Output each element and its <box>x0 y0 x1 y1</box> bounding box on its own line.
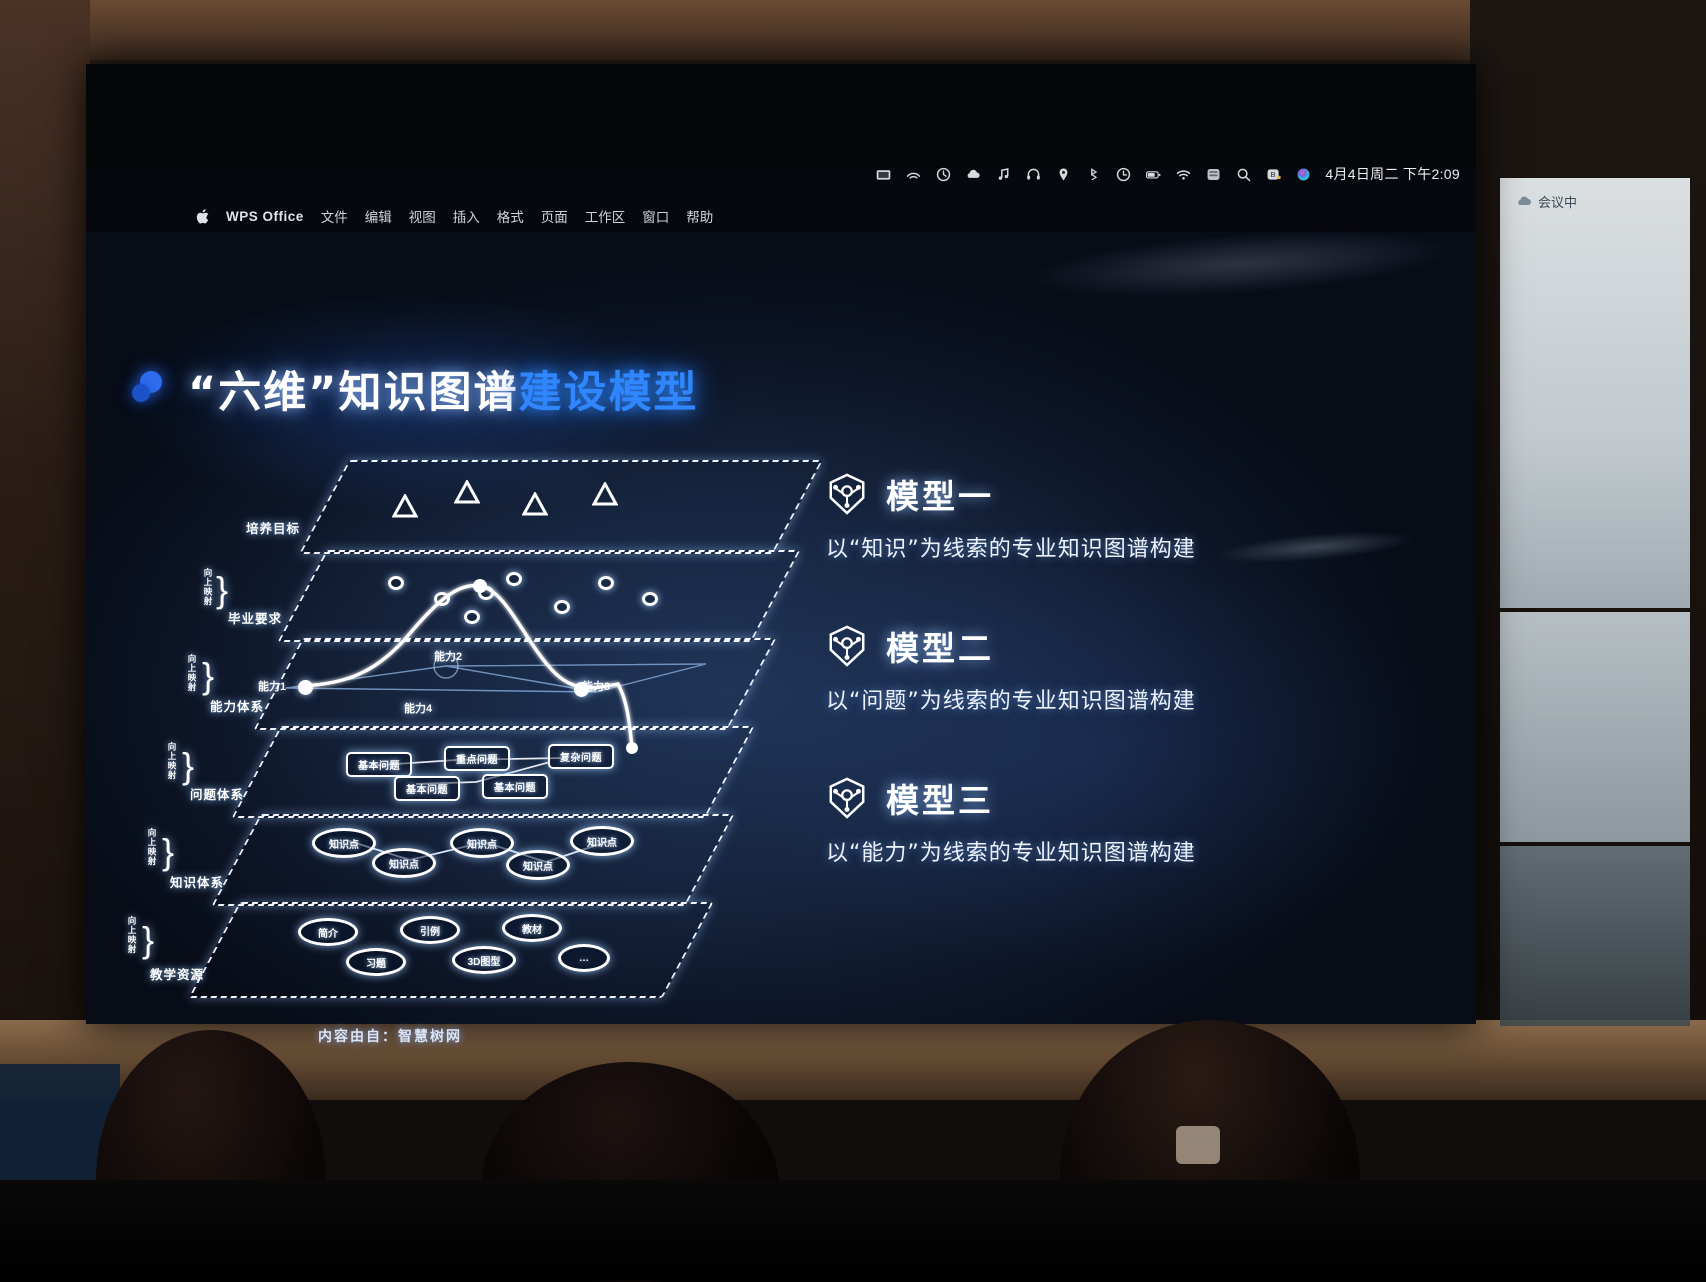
slide-title: “六维”知识图谱建设模型 <box>132 358 699 420</box>
model-block-2: 模型二 以“问题”为线索的专业知识图谱构建 <box>826 622 1386 718</box>
triangle-node-1 <box>392 494 418 518</box>
layer-5-label: 知识体系 <box>170 872 224 891</box>
problem-node-key: 重点问题 <box>444 746 510 771</box>
layer-3-brace: } <box>202 658 224 694</box>
screen-letterbox <box>86 64 1476 168</box>
menu-bar-clock[interactable]: 4月4日周二 下午2:09 <box>1325 164 1460 184</box>
input-method-icon[interactable]: B <box>1265 166 1282 183</box>
cloud-icon <box>1516 195 1532 207</box>
macos-status-bar[interactable]: B 4月4日周二 下午2:09 <box>875 164 1460 184</box>
right-side-panel-lower <box>1500 612 1690 842</box>
model-2-title: 模型二 <box>886 622 994 670</box>
menu-item-format[interactable]: 格式 <box>497 206 524 226</box>
conference-room: 会议中 B 4月4日周二 下午2:09 <box>0 0 1706 1280</box>
svg-text:B: B <box>1271 170 1276 179</box>
knowledge-node: 知识点 <box>450 828 514 858</box>
title-bullet-icon <box>132 371 172 407</box>
shield-node-icon <box>826 776 868 820</box>
shield-node-icon <box>826 472 868 516</box>
model-block-1: 模型一 以“知识”为线索的专业知识图谱构建 <box>826 470 1386 566</box>
layer-6-label: 教学资源 <box>150 964 204 983</box>
problem-node-complex: 复杂问题 <box>548 744 614 769</box>
shield-node-icon <box>826 624 868 668</box>
page-title-main: “六维”知识图谱 <box>188 368 519 418</box>
clock-icon[interactable] <box>935 166 952 183</box>
audience-shoulders <box>0 1180 1706 1280</box>
menu-app-name[interactable]: WPS Office <box>226 209 304 224</box>
apple-logo-icon[interactable] <box>196 209 209 224</box>
wall-left <box>0 0 90 1040</box>
problem-node-basic-2: 基本问题 <box>394 776 460 801</box>
right-side-panel <box>1500 178 1690 608</box>
projector-screen: B 4月4日周二 下午2:09 WPS Office 文件 编辑 视图 插入 格… <box>86 64 1476 1024</box>
triangle-node-3 <box>522 492 548 516</box>
layer-2-mapping-label: 向上映射 <box>202 568 213 606</box>
layer-4-mapping-label: 向上映射 <box>166 742 177 780</box>
model-list: 模型一 以“知识”为线索的专业知识图谱构建 模型二 <box>826 470 1386 926</box>
model-1-title: 模型一 <box>886 470 994 518</box>
music-icon[interactable] <box>995 166 1012 183</box>
layer-5-brace: } <box>162 834 184 870</box>
resource-node-textbook: 教材 <box>502 914 562 942</box>
siri-icon[interactable] <box>1295 166 1312 183</box>
headphone-icon[interactable] <box>1025 166 1042 183</box>
wall-top <box>0 0 1706 66</box>
problem-node-basic-3: 基本问题 <box>482 774 548 799</box>
layer-2-brace: } <box>216 572 238 608</box>
layer-6-brace: } <box>142 922 164 958</box>
problem-links <box>266 722 706 822</box>
menu-item-edit[interactable]: 编辑 <box>365 206 392 226</box>
model-2-body: 以“问题”为线索的专业知识图谱构建 <box>826 686 1306 718</box>
resource-node-example: 引例 <box>400 916 460 944</box>
menu-item-file[interactable]: 文件 <box>321 206 348 226</box>
triangle-node-4 <box>592 482 618 506</box>
resource-node-intro: 简介 <box>298 918 358 946</box>
layer-3-label: 能力体系 <box>210 696 264 715</box>
layer-5-mapping-label: 向上映射 <box>146 828 157 866</box>
layer-6-mapping-label: 向上映射 <box>126 916 137 954</box>
six-dimension-layer-diagram: 培养目标 毕业要求 } 向上映射 能力体系 <box>206 460 766 1020</box>
presentation-slide: “六维”知识图谱建设模型 培养目标 毕业要求 } 向上映射 <box>86 232 1476 1024</box>
resource-node-exercise: 习题 <box>346 948 406 976</box>
control-center-icon[interactable] <box>1205 166 1222 183</box>
menu-item-help[interactable]: 帮助 <box>686 206 713 226</box>
problem-node-basic-1: 基本问题 <box>346 752 412 777</box>
airplay-icon[interactable] <box>905 166 922 183</box>
knowledge-node: 知识点 <box>506 850 570 880</box>
menu-item-view[interactable]: 视图 <box>409 206 436 226</box>
layer-1-label: 培养目标 <box>246 518 300 537</box>
hair-clip <box>1176 1126 1220 1164</box>
bluetooth-icon[interactable] <box>1085 166 1102 183</box>
layer-4-label: 问题体系 <box>190 784 244 803</box>
knowledge-node: 知识点 <box>570 826 634 856</box>
model-block-3: 模型三 以“能力”为线索的专业知识图谱构建 <box>826 774 1386 870</box>
knowledge-node: 知识点 <box>372 848 436 878</box>
knowledge-links <box>246 812 696 912</box>
battery-percent-icon[interactable] <box>1115 166 1132 183</box>
location-icon[interactable] <box>1055 166 1072 183</box>
menu-item-page[interactable]: 页面 <box>541 206 568 226</box>
cloud-sync-icon[interactable] <box>965 166 982 183</box>
page-title-accent: 建设模型 <box>519 368 699 418</box>
menu-item-window[interactable]: 窗口 <box>642 206 669 226</box>
spotlight-search-icon[interactable] <box>1235 166 1252 183</box>
layer-3-mapping-label: 向上映射 <box>186 654 197 692</box>
resource-node-more: … <box>558 944 610 972</box>
triangle-node-2 <box>454 480 480 504</box>
model-3-title: 模型三 <box>886 774 994 822</box>
knowledge-node: 知识点 <box>312 828 376 858</box>
battery-icon[interactable] <box>1145 166 1162 183</box>
layer-1-shape <box>299 460 823 554</box>
model-3-body: 以“能力”为线索的专业知识图谱构建 <box>826 838 1306 870</box>
slide-source-caption: 内容由自：智慧树网 <box>318 1026 462 1046</box>
room-status-badge: 会议中 <box>1516 190 1626 212</box>
wifi-icon[interactable] <box>1175 166 1192 183</box>
screen-record-icon[interactable] <box>875 166 892 183</box>
resource-node-3d-model: 3D图型 <box>452 946 516 974</box>
layer-6-shape <box>188 902 713 998</box>
right-side-panel-bottom <box>1500 846 1690 1026</box>
app-menu-bar[interactable]: WPS Office 文件 编辑 视图 插入 格式 页面 工作区 窗口 帮助 <box>196 206 713 226</box>
menu-item-workspace[interactable]: 工作区 <box>585 206 626 226</box>
room-status-label: 会议中 <box>1538 192 1577 211</box>
model-1-body: 以“知识”为线索的专业知识图谱构建 <box>826 534 1306 566</box>
layer-4-brace: } <box>182 748 204 784</box>
menu-item-insert[interactable]: 插入 <box>453 206 480 226</box>
